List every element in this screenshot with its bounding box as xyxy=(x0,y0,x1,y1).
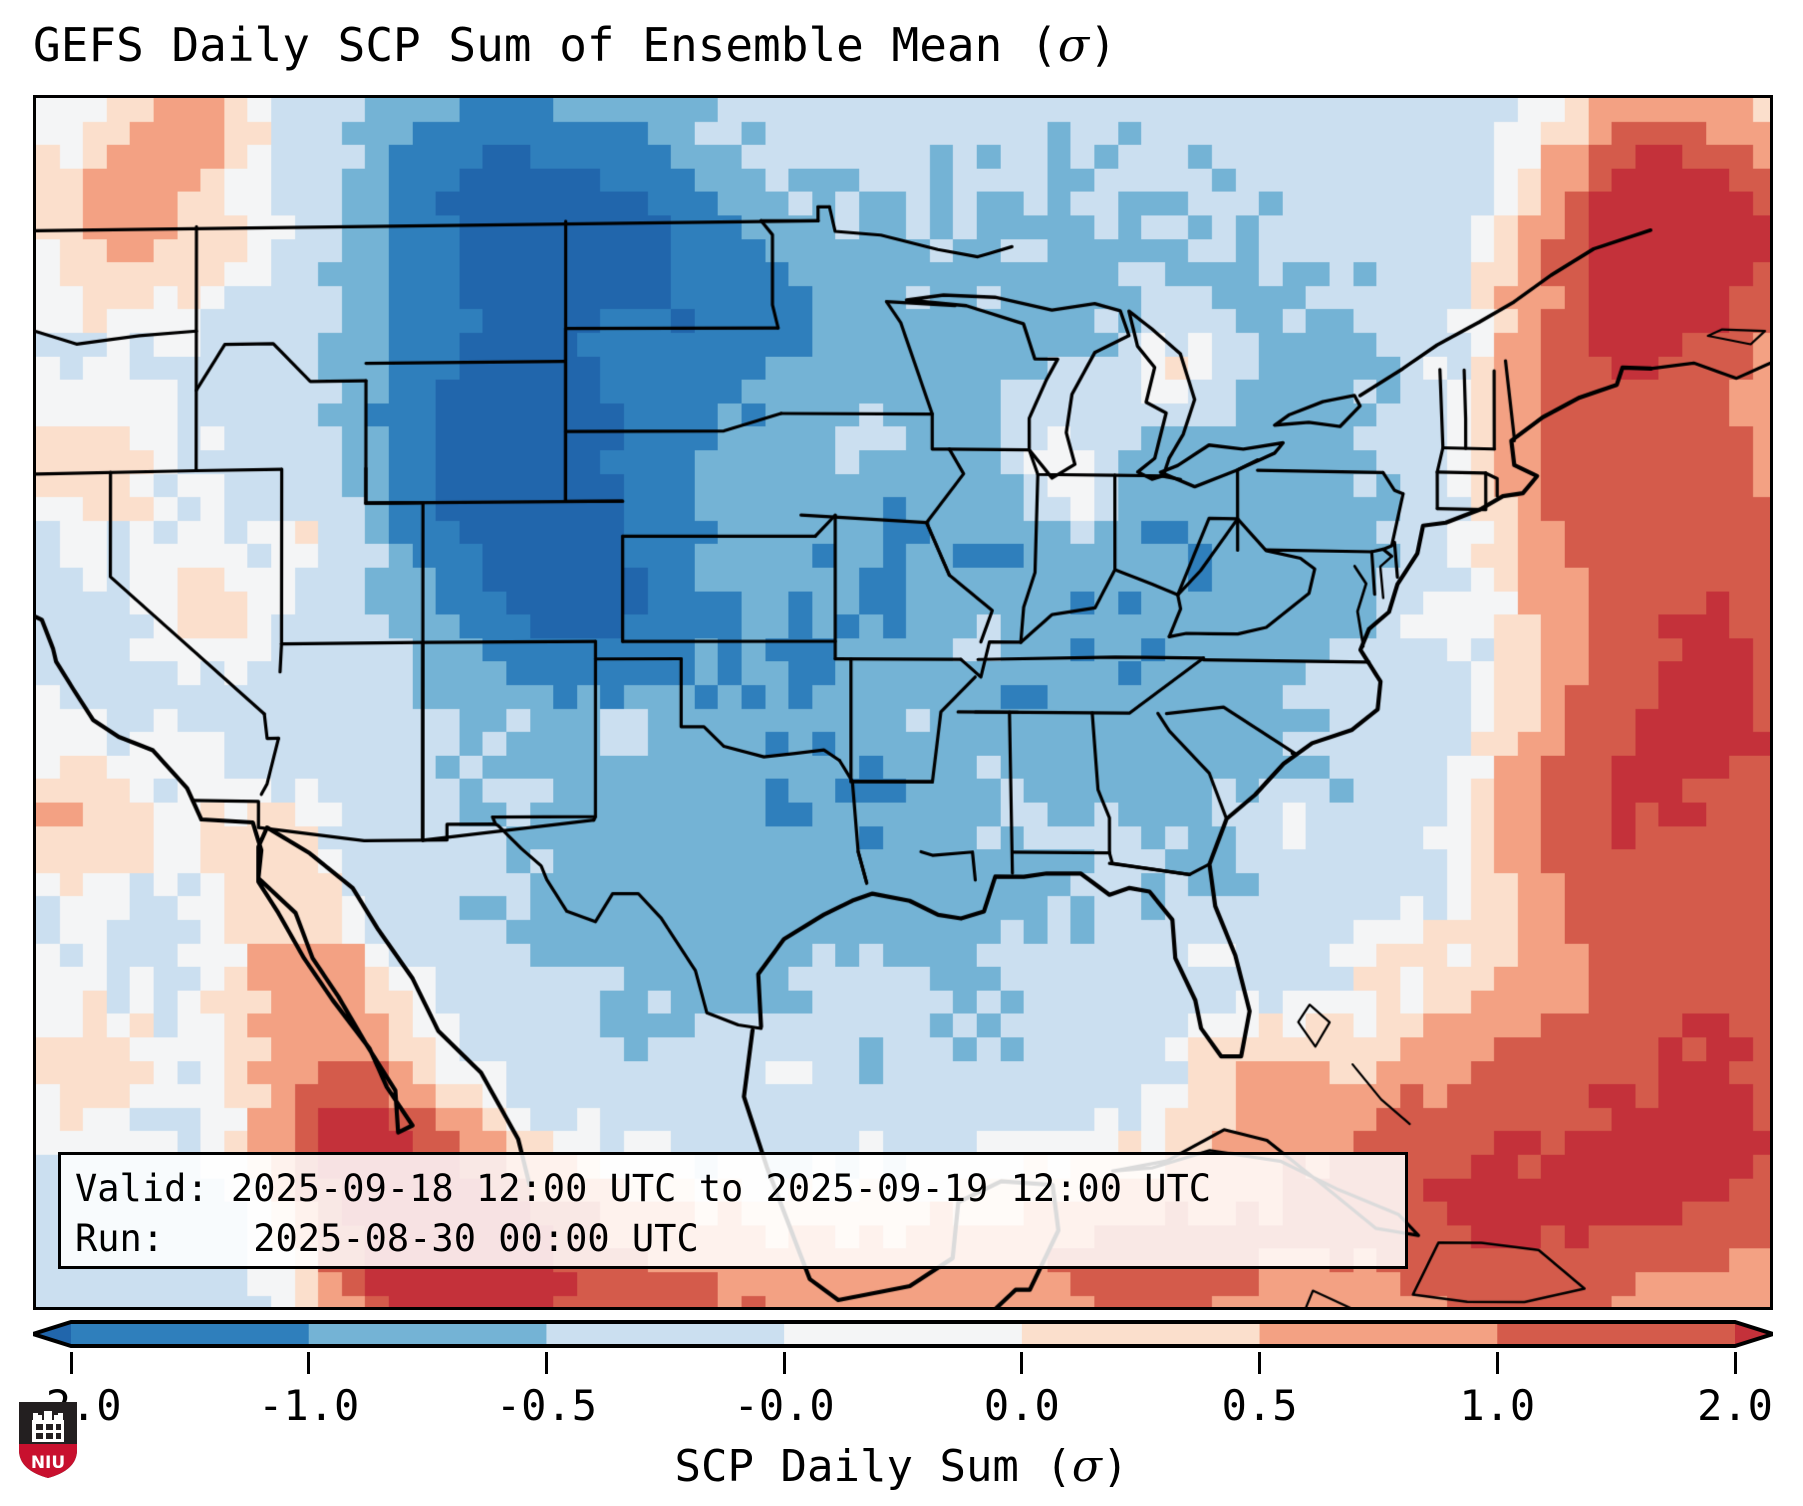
niu-logo-text: NIU xyxy=(31,1453,65,1473)
page-title: GEFS Daily SCP Sum of Ensemble Mean (σ) xyxy=(33,14,1773,76)
colorbar-tick-label: 0.5 xyxy=(1222,1378,1298,1434)
colorbar-tick xyxy=(783,1352,786,1374)
colorbar-tick xyxy=(70,1352,73,1374)
colorbar-ticks xyxy=(33,1352,1773,1376)
valid-time-line: Valid: 2025-09-18 12:00 UTC to 2025-09-1… xyxy=(75,1164,1391,1214)
colorbar-label-text: SCP Daily Sum ( xyxy=(675,1441,1072,1492)
niu-logo: NIU xyxy=(17,1400,79,1480)
title-prefix: GEFS Daily SCP Sum of Ensemble Mean ( xyxy=(33,18,1058,72)
colorbar-tick xyxy=(1734,1352,1737,1374)
colorbar-tick-label: 0.0 xyxy=(984,1378,1060,1434)
colorbar-tick xyxy=(545,1352,548,1374)
title-suffix: ) xyxy=(1089,18,1117,72)
map-axes[interactable] xyxy=(33,95,1773,1310)
colorbar-tick xyxy=(307,1352,310,1374)
colorbar[interactable] xyxy=(33,1318,1773,1352)
colorbar-tick xyxy=(1020,1352,1023,1374)
run-time-line: Run: 2025-08-30 00:00 UTC xyxy=(75,1214,1391,1264)
colorbar-tick-label: -0.0 xyxy=(734,1378,835,1434)
colorbar-tick-label: 1.0 xyxy=(1459,1378,1535,1434)
forecast-info-box: Valid: 2025-09-18 12:00 UTC to 2025-09-1… xyxy=(58,1152,1408,1269)
colorbar-tick-label: 2.0 xyxy=(1697,1378,1773,1434)
colorbar-tick-label: -1.0 xyxy=(258,1378,359,1434)
scp-anomaly-heatmap[interactable] xyxy=(36,98,1770,1307)
colorbar-tick-labels: -2.0-1.0-0.5-0.00.00.51.02.0 xyxy=(0,1378,1803,1434)
colorbar-gradient[interactable] xyxy=(33,1318,1773,1352)
sigma-symbol: σ xyxy=(1058,18,1089,72)
sigma-symbol-colorbar: σ xyxy=(1072,1441,1102,1492)
colorbar-tick xyxy=(1258,1352,1261,1374)
colorbar-label-paren: ) xyxy=(1102,1441,1129,1492)
colorbar-tick-label: -0.5 xyxy=(496,1378,597,1434)
colorbar-axis-label: SCP Daily Sum (σ) xyxy=(0,1438,1803,1496)
colorbar-tick xyxy=(1496,1352,1499,1374)
figure-canvas: GEFS Daily SCP Sum of Ensemble Mean (σ) … xyxy=(0,0,1803,1506)
